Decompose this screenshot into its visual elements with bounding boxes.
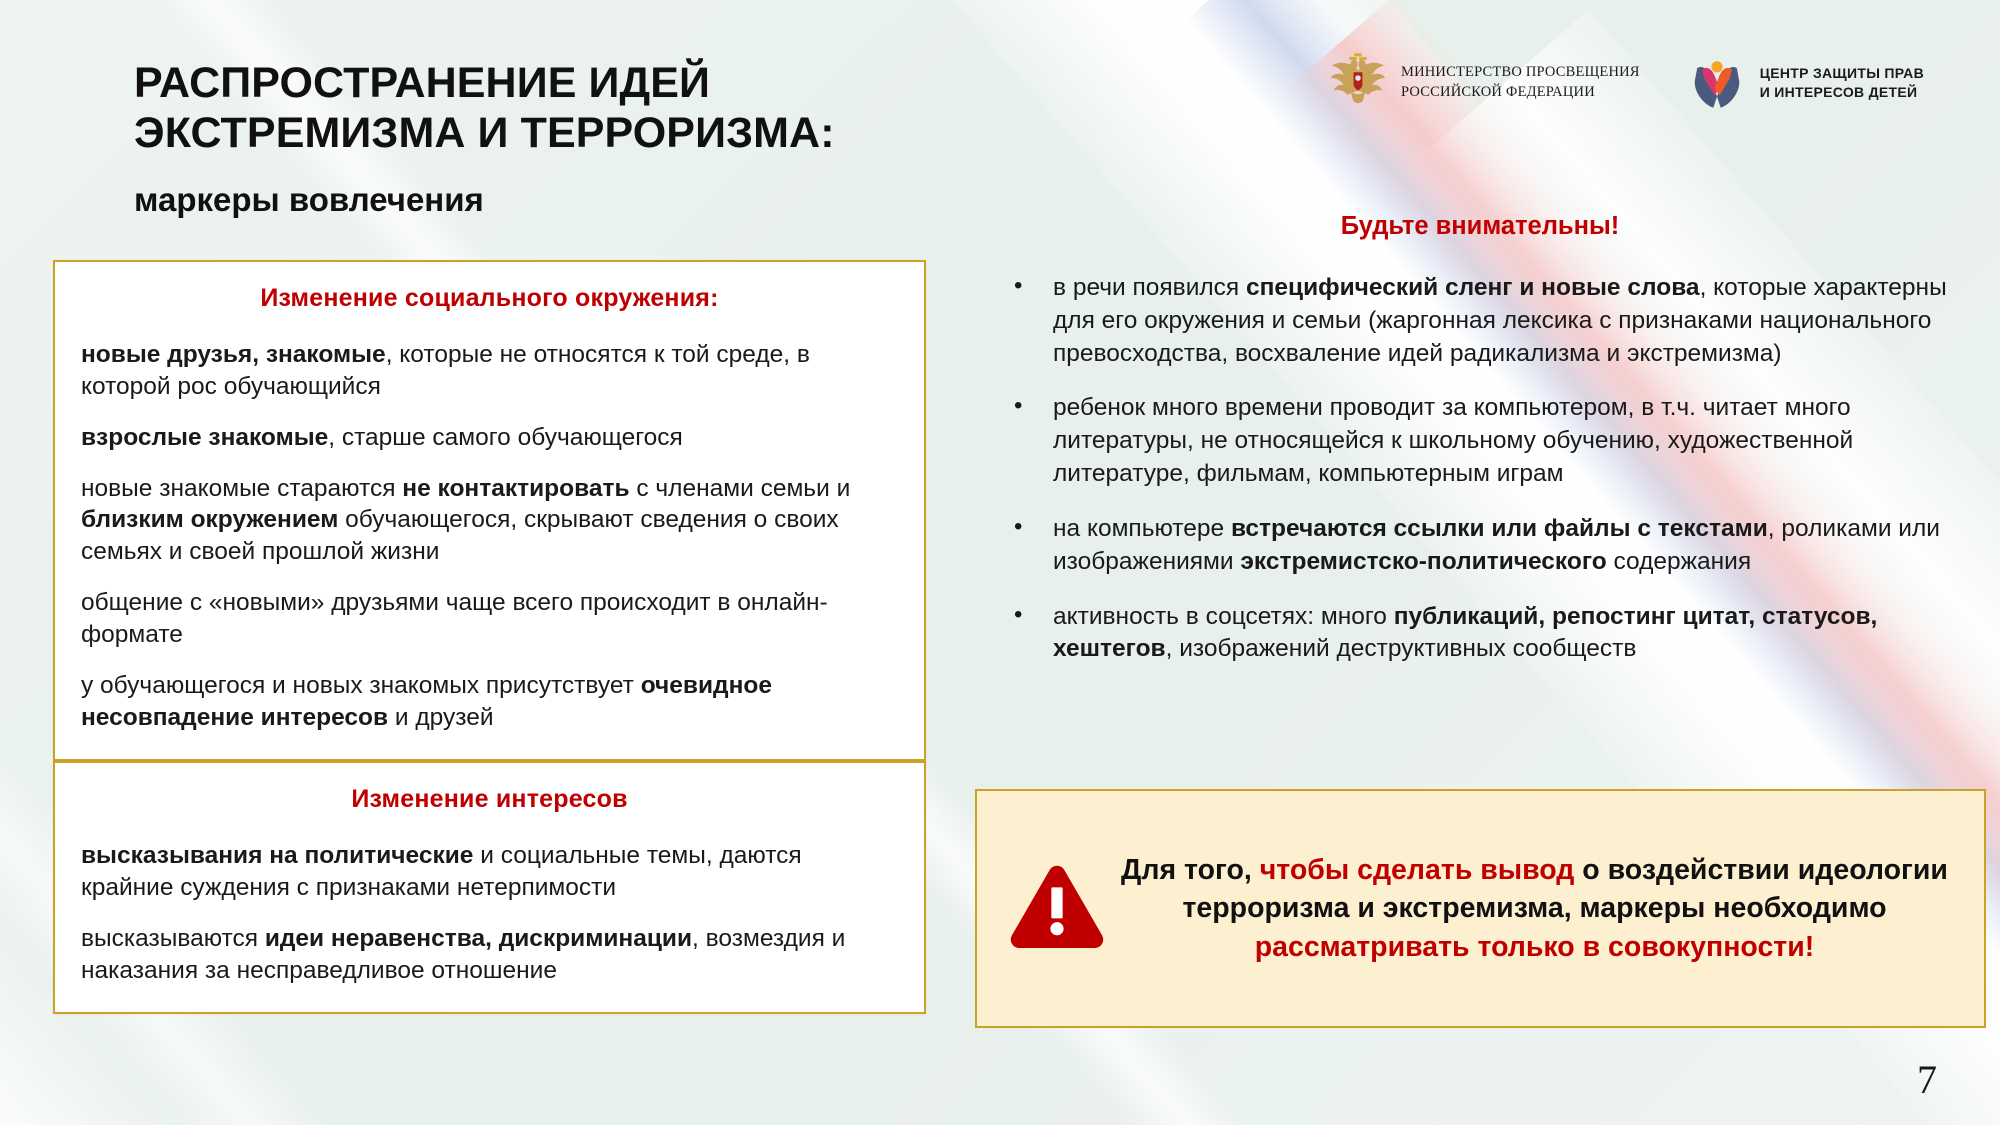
center-logo: ЦЕНТР ЗАЩИТЫ ПРАВИ ИНТЕРЕСОВ ДЕТЕЙ (1686, 52, 1924, 114)
card-social-environment-heading: Изменение социального окружения: (81, 284, 898, 313)
ministry-logo-line1: МИНИСТЕРСТВО ПРОСВЕЩЕНИЯ (1401, 64, 1640, 80)
list-item: в речи появился специфический сленг и но… (1000, 272, 1990, 370)
page-number: 7 (1917, 1056, 1937, 1103)
card-paragraph: высказывания на политические и социальны… (81, 840, 898, 904)
list-item: активность в соцсетях: много публикаций,… (1000, 601, 1990, 667)
card-interests: Изменение интересов высказывания на поли… (53, 761, 926, 1014)
card-paragraph: новые друзья, знакомые, которые не относ… (81, 339, 898, 403)
russian-coat-of-arms-icon (1327, 52, 1389, 114)
hands-child-icon (1686, 52, 1748, 114)
ministry-logo: МИНИСТЕРСТВО ПРОСВЕЩЕНИЯРОССИЙСКОЙ ФЕДЕР… (1327, 52, 1640, 114)
page-subtitle: маркеры вовлечения (134, 181, 964, 219)
ministry-logo-line2: РОССИЙСКОЙ ФЕДЕРАЦИИ (1401, 84, 1595, 100)
card-paragraph: взрослые знакомые, старше самого обучающ… (81, 422, 898, 454)
conclusion-callout: Для того, чтобы сделать вывод о воздейст… (975, 789, 1986, 1028)
center-logo-line1: ЦЕНТР ЗАЩИТЫ ПРАВ (1760, 65, 1924, 81)
page-title-line2: ЭКСТРЕМИЗМА И ТЕРРОРИЗМА: (134, 108, 964, 158)
logo-bar: МИНИСТЕРСТВО ПРОСВЕЩЕНИЯРОССИЙСКОЙ ФЕДЕР… (1327, 52, 1924, 114)
card-paragraph: у обучающегося и новых знакомых присутст… (81, 670, 898, 734)
ministry-logo-text: МИНИСТЕРСТВО ПРОСВЕЩЕНИЯРОССИЙСКОЙ ФЕДЕР… (1401, 63, 1640, 102)
conclusion-text: Для того, чтобы сделать вывод о воздейст… (1119, 851, 1958, 966)
list-item: на компьютере встречаются ссылки или фай… (1000, 513, 1990, 579)
warning-triangle-icon (995, 862, 1119, 956)
slide-canvas: РАСПРОСТРАНЕНИЕ ИДЕЙ ЭКСТРЕМИЗМА И ТЕРРО… (0, 0, 2000, 1125)
center-logo-line2: И ИНТЕРЕСОВ ДЕТЕЙ (1760, 84, 1918, 100)
list-item: ребенок много времени проводит за компью… (1000, 392, 1990, 490)
card-paragraph: общение с «новыми» друзьями чаще всего п… (81, 587, 898, 651)
card-paragraph: новые знакомые стараются не контактирова… (81, 473, 898, 569)
conclusion-plain: Для того, (1121, 854, 1260, 886)
page-title-line1: РАСПРОСТРАНЕНИЕ ИДЕЙ (134, 58, 964, 108)
card-social-environment: Изменение социального окружения: новые д… (53, 260, 926, 761)
card-interests-body: высказывания на политические и социальны… (81, 840, 898, 986)
conclusion-highlight: чтобы сделать вывод (1260, 854, 1575, 886)
attention-bullet-list: в речи появился специфический сленг и но… (1000, 272, 1990, 688)
attention-heading: Будьте внимательны! (975, 212, 1985, 241)
page-title: РАСПРОСТРАНЕНИЕ ИДЕЙ ЭКСТРЕМИЗМА И ТЕРРО… (134, 58, 964, 219)
card-interests-heading: Изменение интересов (81, 785, 898, 814)
center-logo-text: ЦЕНТР ЗАЩИТЫ ПРАВИ ИНТЕРЕСОВ ДЕТЕЙ (1760, 64, 1924, 102)
conclusion-highlight: рассматривать только в совокупности! (1255, 931, 1815, 963)
card-social-environment-body: новые друзья, знакомые, которые не относ… (81, 339, 898, 733)
card-paragraph: высказываются идеи неравенства, дискрими… (81, 923, 898, 987)
